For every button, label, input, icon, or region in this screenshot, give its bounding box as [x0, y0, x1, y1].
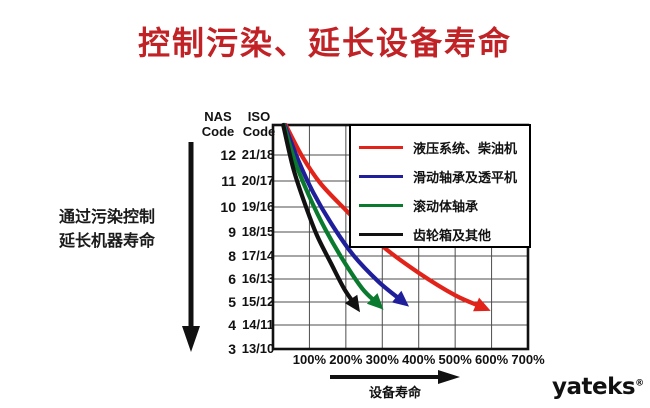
chart-legend: 液压系统、柴油机滑动轴承及透平机滚动体轴承齿轮箱及其他 [349, 124, 531, 248]
legend-label: 齿轮箱及其他 [413, 225, 491, 244]
x-axis-title: 设备寿命 [330, 382, 460, 401]
legend-color-swatch [359, 204, 403, 207]
x-axis-tick-label: 700% [505, 352, 551, 367]
nas-code-value: 10 [198, 199, 236, 215]
page-title: 控制污染、延长设备寿命 [0, 18, 650, 64]
nas-code-value: 5 [198, 294, 236, 310]
nas-code-value: 8 [198, 248, 236, 264]
legend-item[interactable]: 齿轮箱及其他 [351, 219, 529, 250]
nas-code-header: NAS Code [198, 109, 238, 139]
slide-canvas: 控制污染、延长设备寿命 通过污染控制 延长机器寿命 NAS Code ISO C… [0, 0, 650, 408]
legend-label: 滚动体轴承 [413, 196, 478, 215]
side-caption: 通过污染控制 延长机器寿命 [36, 205, 178, 253]
legend-item[interactable]: 液压系统、柴油机 [351, 132, 529, 163]
side-caption-line2: 延长机器寿命 [36, 229, 178, 253]
legend-item[interactable]: 滑动轴承及透平机 [351, 161, 529, 192]
side-caption-line1: 通过污染控制 [36, 205, 178, 229]
brand-logo-text: yateks [552, 374, 635, 400]
nas-code-value: 12 [198, 147, 236, 163]
curve-arrowhead-1 [473, 298, 494, 318]
legend-item[interactable]: 滚动体轴承 [351, 190, 529, 221]
nas-code-value: 4 [198, 317, 236, 333]
nas-code-header-line1: NAS [198, 109, 238, 124]
brand-logo: yateks® [552, 374, 644, 400]
legend-color-swatch [359, 175, 403, 178]
legend-color-swatch [359, 146, 403, 149]
nas-code-value: 3 [198, 341, 236, 357]
nas-code-value: 6 [198, 271, 236, 287]
legend-label: 滑动轴承及透平机 [413, 167, 517, 186]
nas-code-header-line2: Code [198, 124, 238, 139]
nas-code-value: 9 [198, 224, 236, 240]
nas-code-value: 11 [198, 173, 236, 189]
legend-label: 液压系统、柴油机 [413, 138, 517, 157]
brand-logo-mark: ® [635, 378, 644, 388]
legend-color-swatch [359, 233, 403, 236]
